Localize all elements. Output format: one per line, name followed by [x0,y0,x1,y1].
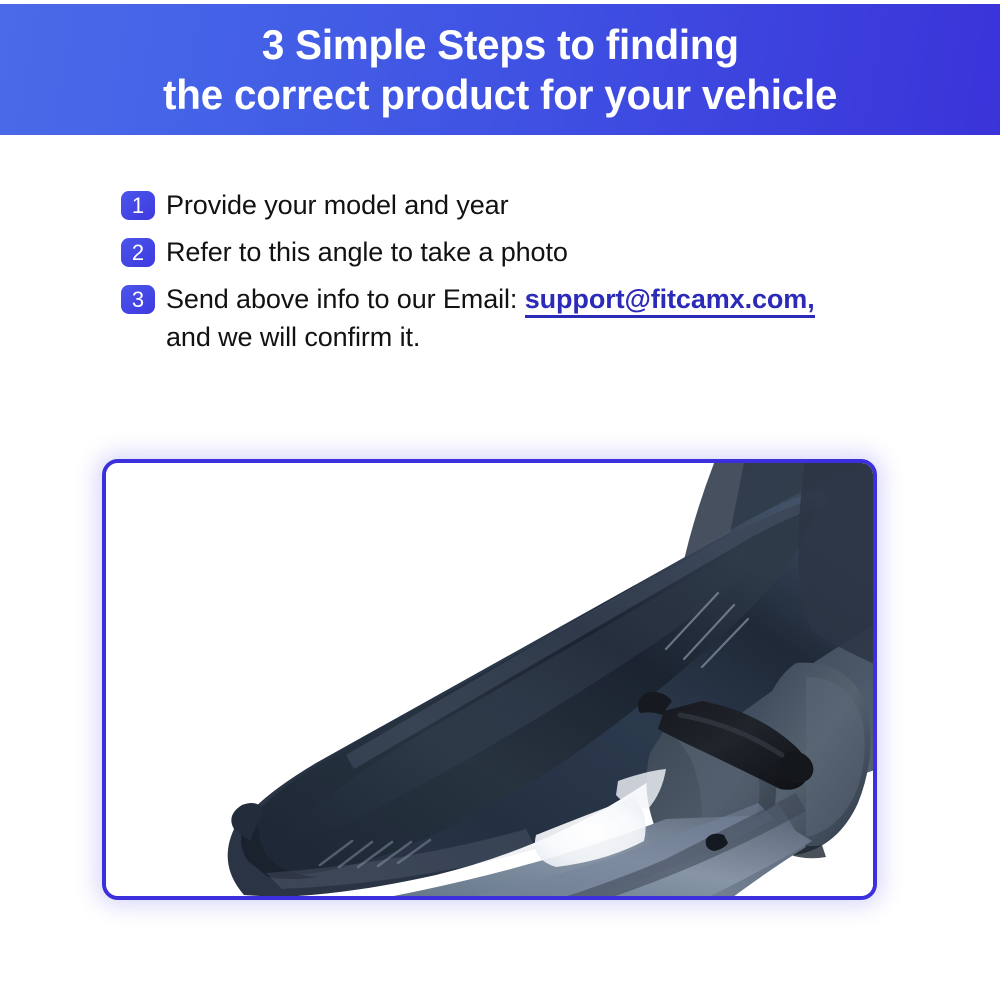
support-email-link[interactable]: support@fitcamx.com, [525,284,815,318]
header-title-line-1: 3 Simple Steps to finding [262,20,739,70]
reference-photo [106,463,873,896]
step-text-1: Provide your model and year [166,186,509,224]
step-text-3-before: Send above info to our Email: [166,284,525,314]
step-item-1: 1 Provide your model and year [121,186,921,224]
step-text-3: Send above info to our Email: support@fi… [166,280,815,356]
step-number-badge-2: 2 [121,238,155,267]
steps-list: 1 Provide your model and year 2 Refer to… [121,186,921,365]
mirror-illustration [106,463,873,896]
step-text-2: Refer to this angle to take a photo [166,233,568,271]
step-number-badge-3: 3 [121,285,155,314]
header-title-line-2: the correct product for your vehicle [163,70,837,120]
step-text-3-after: and we will confirm it. [166,322,420,352]
reference-photo-frame [102,459,877,900]
header-banner: 3 Simple Steps to finding the correct pr… [0,4,1000,135]
step-number-badge-1: 1 [121,191,155,220]
step-item-3: 3 Send above info to our Email: support@… [121,280,921,356]
step-item-2: 2 Refer to this angle to take a photo [121,233,921,271]
page-root: 3 Simple Steps to finding the correct pr… [0,0,1000,1000]
